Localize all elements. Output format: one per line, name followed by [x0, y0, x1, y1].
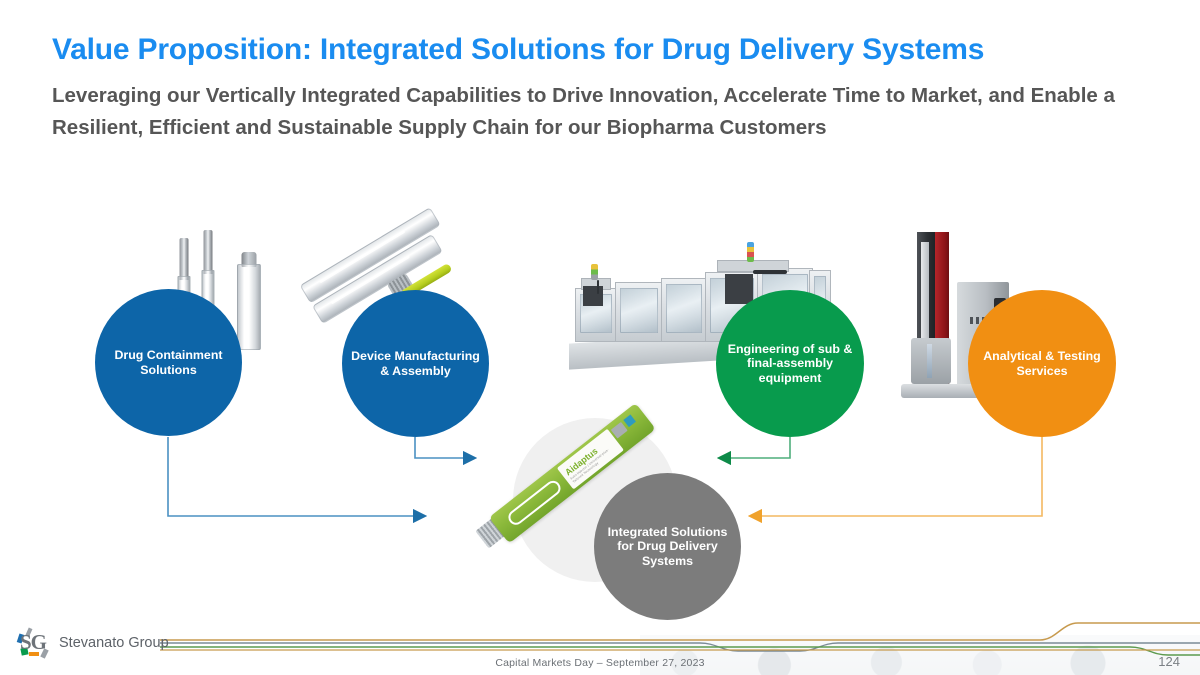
- connector-analytical: [751, 437, 1042, 516]
- pen-label: Aidaptus Auto-Injector | Universal-plus-…: [557, 429, 624, 490]
- bubble-label: Engineering of sub & final-assembly equi…: [716, 342, 864, 386]
- pen-teal-accent: [623, 414, 636, 427]
- instrument-test-specimen: [927, 344, 932, 378]
- connector-device-manufacturing: [415, 437, 474, 458]
- bubble-integrated-solutions[interactable]: Integrated Solutions for Drug Delivery S…: [594, 473, 741, 620]
- bubble-device-manufacturing-assembly[interactable]: Device Manufacturing & Assembly: [342, 290, 489, 437]
- connector-drug-containment: [168, 437, 424, 516]
- bubble-analytical-testing-services[interactable]: Analytical & Testing Services: [968, 290, 1116, 437]
- bubble-drug-containment-solutions[interactable]: Drug Containment Solutions: [95, 289, 242, 436]
- bubble-label: Analytical & Testing Services: [968, 349, 1116, 378]
- bubble-label: Device Manufacturing & Assembly: [342, 349, 489, 378]
- machine-control-box: [583, 286, 603, 306]
- vial-body: [237, 264, 261, 350]
- signal-tower-icon: [747, 242, 754, 262]
- machine-glass-panel: [666, 284, 702, 333]
- needle-shield-icon: [204, 230, 213, 274]
- bubble-engineering-equipment[interactable]: Engineering of sub & final-assembly equi…: [716, 290, 864, 437]
- machine-arm: [753, 270, 787, 274]
- bubble-label: Drug Containment Solutions: [95, 348, 242, 377]
- slide-canvas: Value Proposition: Integrated Solutions …: [0, 0, 1200, 675]
- machine-glass-panel: [620, 288, 658, 333]
- needle-shield-icon: [180, 238, 189, 280]
- connector-engineering: [720, 437, 790, 458]
- machine-control-box: [725, 274, 753, 304]
- machine-arm: [597, 280, 599, 294]
- signal-tower-icon: [591, 264, 598, 280]
- machine-cell: [615, 282, 663, 342]
- pen-inspection-window: [505, 478, 563, 528]
- machine-cell: [661, 278, 707, 342]
- bubble-label: Integrated Solutions for Drug Delivery S…: [594, 525, 741, 569]
- glass-vial: [237, 252, 261, 350]
